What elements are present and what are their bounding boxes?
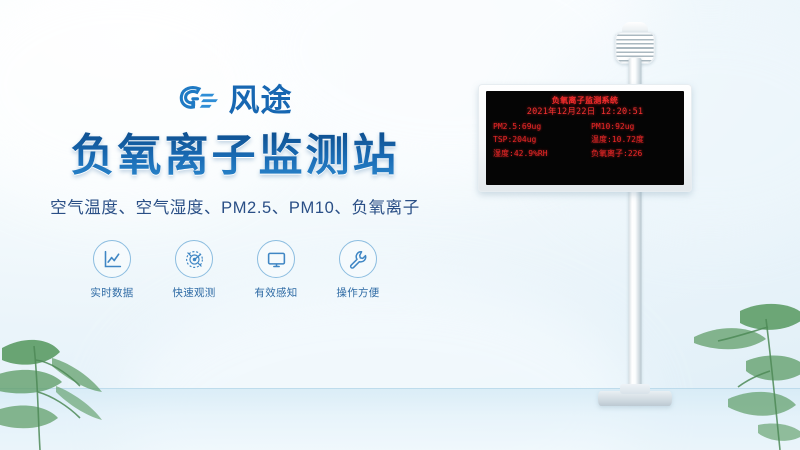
feature-item-fast-observation[interactable]: 快速观测 <box>168 240 220 300</box>
feature-item-realtime-data[interactable]: 实时数据 <box>86 240 138 300</box>
radar-scan-icon <box>184 249 205 270</box>
monitor-icon <box>266 249 287 270</box>
page-subtitle: 空气温度、空气湿度、PM2.5、PM10、负氧离子 <box>50 194 420 218</box>
led-screen-title: 负氧离子监测系统 <box>493 96 677 106</box>
brand-name: 风途 <box>229 85 293 116</box>
poster-stage: 风途 负氧离子监测站 空气温度、空气湿度、PM2.5、PM10、负氧离子 实时数… <box>0 0 800 450</box>
station-base-flange <box>598 391 672 406</box>
wrench-icon <box>348 249 369 270</box>
led-reading-pm25: PM2.5:69ug <box>493 121 583 133</box>
feature-item-easy-operation[interactable]: 操作方便 <box>332 240 384 300</box>
left-content-pane: 风途 负氧离子监测站 空气温度、空气湿度、PM2.5、PM10、负氧离子 实时数… <box>0 78 470 300</box>
feature-icon-ring <box>93 240 131 278</box>
led-reading-negative-oxygen-ions: 负氧离子:226 <box>587 148 677 160</box>
led-display-panel[interactable]: 负氧离子监测系统 2021年12月22日 12:20:51 PM2.5:69ug… <box>478 84 692 192</box>
feature-item-effective-sensing[interactable]: 有效感知 <box>250 240 302 300</box>
led-reading-tsp: TSP:204ug <box>493 134 583 146</box>
feature-icon-ring <box>175 240 213 278</box>
feature-label: 有效感知 <box>254 285 297 300</box>
led-screen-datetime: 2021年12月22日 12:20:51 <box>493 107 677 119</box>
led-screen: 负氧离子监测系统 2021年12月22日 12:20:51 PM2.5:69ug… <box>486 91 684 185</box>
fengtu-wind-g-icon <box>178 85 220 115</box>
feature-label: 实时数据 <box>90 285 133 300</box>
page-title: 负氧离子监测站 <box>71 131 400 180</box>
green-leaves-icon <box>0 300 134 450</box>
led-reading-pm10: PM10:92ug <box>587 121 677 133</box>
feature-list: 实时数据 快速观测 <box>86 240 384 300</box>
led-reading-humidity: 湿度:42.9%RH <box>493 148 583 160</box>
feature-label: 快速观测 <box>172 285 215 300</box>
feature-icon-ring <box>257 240 295 278</box>
brand-lockup: 风途 <box>178 78 293 122</box>
green-leaves-icon <box>684 275 800 450</box>
line-chart-icon <box>102 249 123 270</box>
feature-label: 操作方便 <box>336 285 379 300</box>
led-reading-temperature: 温度:10.72度 <box>587 134 677 146</box>
led-readings-grid: PM2.5:69ug PM10:92ug TSP:204ug 温度:10.72度… <box>493 121 677 160</box>
feature-icon-ring <box>339 240 377 278</box>
